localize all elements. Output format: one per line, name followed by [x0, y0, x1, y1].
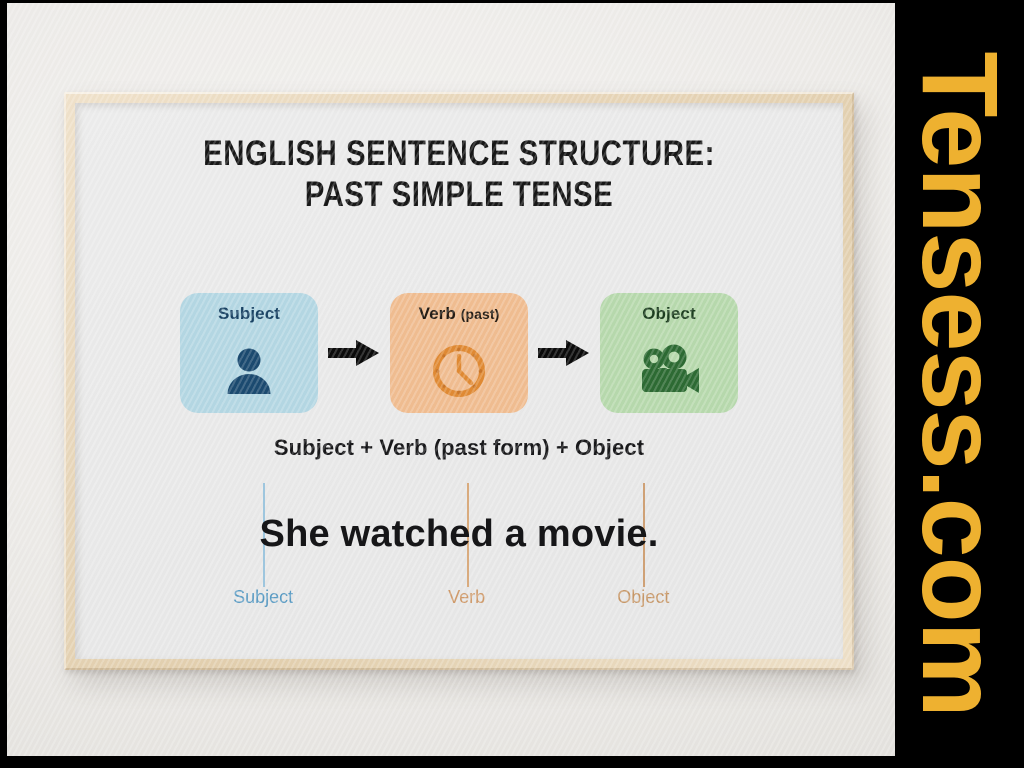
photo-edge-left — [0, 0, 7, 768]
movie-camera-icon — [637, 328, 701, 413]
example-breakdown: She watched a movie. Subject Verb Object — [75, 483, 843, 623]
structure-diagram-row: Subject — [75, 293, 843, 413]
title-line-2: PAST SIMPLE TENSE — [136, 174, 781, 215]
tag-subject: Subject — [233, 587, 293, 608]
box-label-object: Object — [642, 304, 696, 324]
photo-edge-top — [0, 0, 1024, 3]
box-label-subject: Subject — [218, 304, 280, 324]
photo-edge-bottom — [0, 756, 1024, 768]
diagram-box-verb[interactable]: Verb (past) — [390, 293, 528, 413]
arrow-right-2 — [528, 333, 600, 373]
arrow-right-1 — [318, 333, 390, 373]
formula-text: Subject + Verb (past form) + Object — [75, 435, 843, 461]
person-icon — [221, 328, 277, 413]
poster: ENGLISH SENTENCE STRUCTURE: PAST SIMPLE … — [75, 103, 843, 659]
example-sentence: She watched a movie. — [75, 513, 843, 556]
clock-icon — [430, 328, 488, 413]
watermark-text: Tensess.com — [906, 51, 1014, 716]
box-label-verb-qualifier: (past) — [461, 306, 500, 322]
page-title: ENGLISH SENTENCE STRUCTURE: PAST SIMPLE … — [136, 133, 781, 216]
wall-background: ENGLISH SENTENCE STRUCTURE: PAST SIMPLE … — [6, 0, 895, 757]
watermark-band: Tensess.com — [895, 0, 1024, 768]
diagram-box-subject[interactable]: Subject — [180, 293, 318, 413]
tag-object: Object — [617, 587, 669, 608]
box-label-verb: Verb (past) — [419, 304, 500, 324]
screenshot-canvas: ENGLISH SENTENCE STRUCTURE: PAST SIMPLE … — [0, 0, 1024, 768]
box-label-verb-main: Verb — [419, 304, 461, 323]
title-line-1: ENGLISH SENTENCE STRUCTURE: — [203, 134, 715, 173]
diagram-box-object[interactable]: Object — [600, 293, 738, 413]
tag-verb: Verb — [448, 587, 485, 608]
picture-frame: ENGLISH SENTENCE STRUCTURE: PAST SIMPLE … — [64, 92, 854, 670]
